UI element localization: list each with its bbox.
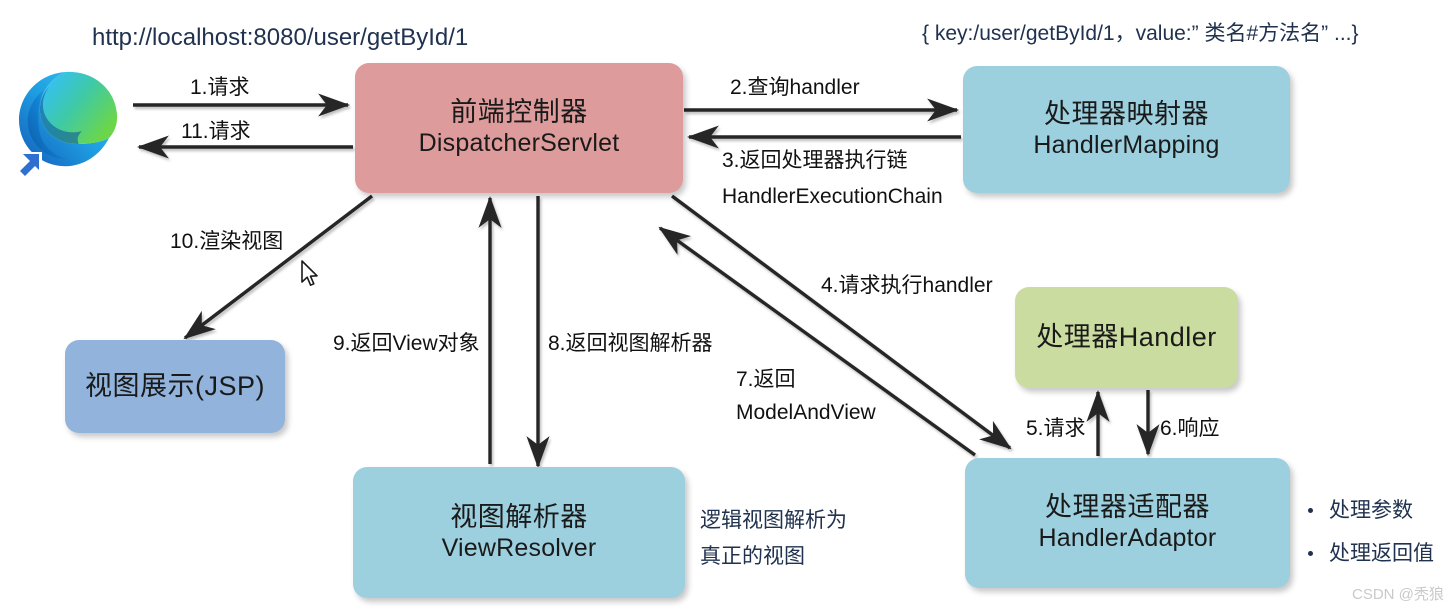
node-dispatcher-servlet[interactable]: 前端控制器 DispatcherServlet: [355, 63, 683, 193]
bullet-label: 处理返回值: [1329, 543, 1434, 564]
step-label-7-modelandview: ModelAndView: [736, 399, 876, 427]
node-handler-adaptor[interactable]: 处理器适配器 HandlerAdaptor: [965, 458, 1290, 588]
step-label-5: 5.请求: [1026, 415, 1086, 443]
node-handler[interactable]: 处理器Handler: [1015, 287, 1238, 388]
diagram-canvas: http://localhost:8080/user/getById/1 { k…: [0, 0, 1453, 610]
bullet-dot-icon: [1308, 551, 1313, 556]
view-resolver-note-line1: 逻辑视图解析为: [700, 507, 847, 535]
step-label-2: 2.查询handler: [730, 74, 860, 102]
step-label-4: 4.请求执行handler: [821, 272, 993, 300]
node-handler-mapping-cn: 处理器映射器: [1044, 99, 1209, 131]
step-label-9: 9.返回View对象: [333, 330, 480, 358]
view-resolver-note-line2: 真正的视图: [700, 543, 805, 571]
node-view-resolver-cn: 视图解析器: [450, 502, 588, 534]
step-label-3: 3.返回处理器执行链: [722, 147, 908, 175]
node-handler-mapping[interactable]: 处理器映射器 HandlerMapping: [963, 66, 1290, 193]
list-item: 处理参数: [1308, 500, 1434, 521]
watermark: CSDN @秃狼: [1352, 583, 1444, 604]
request-url-label: http://localhost:8080/user/getById/1: [92, 22, 468, 54]
step-label-7: 7.返回: [736, 366, 796, 394]
step-label-11: 11.请求: [181, 118, 251, 146]
step-label-6: 6.响应: [1160, 415, 1220, 443]
node-handler-cn: 处理器Handler: [1036, 322, 1217, 354]
node-handler-mapping-en: HandlerMapping: [1033, 131, 1219, 161]
bullet-dot-icon: [1308, 508, 1313, 513]
list-item: 处理返回值: [1308, 543, 1434, 564]
node-view-jsp[interactable]: 视图展示(JSP): [65, 340, 285, 433]
step-label-1: 1.请求: [190, 74, 250, 102]
step-label-8: 8.返回视图解析器: [548, 330, 713, 358]
node-dispatcher-servlet-cn: 前端控制器: [450, 97, 588, 129]
handler-adaptor-bullets: 处理参数 处理返回值: [1308, 500, 1434, 564]
node-view-resolver[interactable]: 视图解析器 ViewResolver: [353, 467, 685, 598]
step-label-10: 10.渲染视图: [170, 228, 283, 256]
step-label-3-chain: HandlerExecutionChain: [722, 183, 943, 211]
node-handler-adaptor-cn: 处理器适配器: [1045, 492, 1210, 524]
edge-browser-icon: [8, 60, 128, 180]
node-dispatcher-servlet-en: DispatcherServlet: [419, 129, 620, 159]
bullet-label: 处理参数: [1329, 500, 1413, 521]
handler-mapping-note: { key:/user/getById/1，value:” 类名#方法名” ..…: [922, 20, 1359, 48]
node-view-resolver-en: ViewResolver: [442, 534, 597, 564]
mouse-pointer-icon: [300, 260, 320, 293]
node-view-jsp-cn: 视图展示(JSP): [85, 371, 265, 403]
node-handler-adaptor-en: HandlerAdaptor: [1039, 524, 1217, 554]
